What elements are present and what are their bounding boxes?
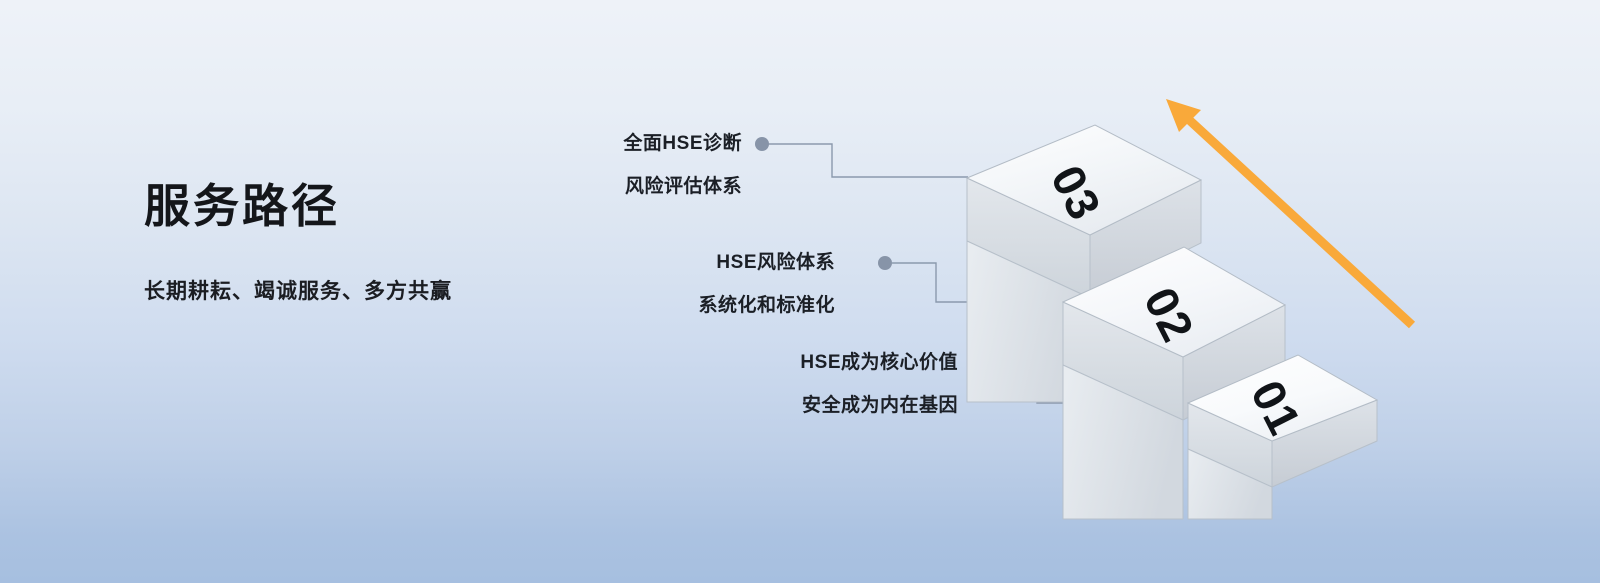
connector-step-03 [755,137,968,177]
slide-canvas: 服务路径 长期耕耘、竭诚服务、多方共赢 HSE成为核心价值 安全成为内在基因 H… [0,0,1600,583]
connector-dot-step-02 [878,256,892,270]
isometric-staircase-graphic: 03 02 01 [0,0,1600,583]
connector-dot-step-03 [755,137,769,151]
